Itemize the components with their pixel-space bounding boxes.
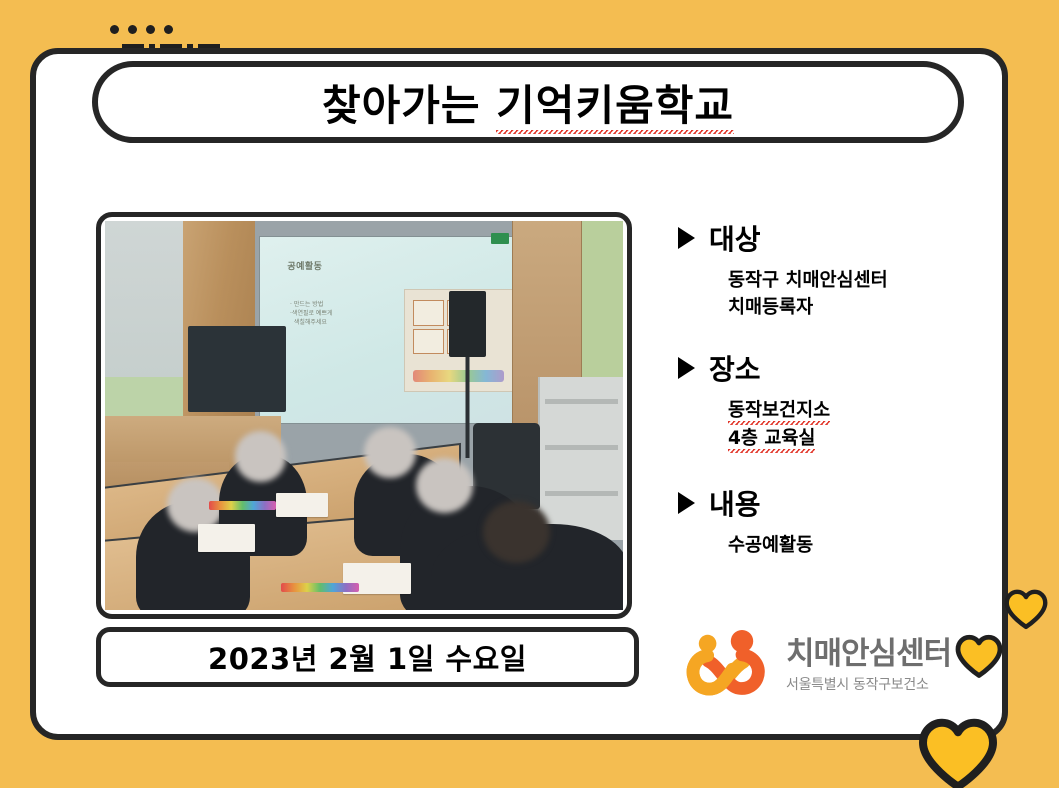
heart-medium-right-icon (955, 633, 1003, 679)
triangle-bullet-icon (678, 357, 695, 379)
title-spellchecked-part: 기억키움학교 (496, 81, 734, 137)
event-date: 2023년 2월 1일 수요일 (208, 636, 527, 678)
info-target-line-2: 치매등록자 (728, 295, 988, 322)
info-body-content: 수공예활동 (728, 533, 988, 560)
heart-small-right-icon (1004, 588, 1048, 630)
info-heading-content: 내용 (678, 483, 988, 523)
info-heading-location-label: 장소 (709, 348, 761, 388)
heart-large-bottom-icon (918, 716, 998, 788)
dot-3 (146, 25, 155, 34)
triangle-bullet-icon (678, 492, 695, 514)
info-block-content: 내용 수공예활동 (678, 483, 988, 560)
photo-speaker (449, 291, 485, 357)
title-plain-part: 찾아가는 (322, 81, 496, 130)
info-content-line-1: 수공예활동 (728, 533, 988, 560)
photo-participant-4-face (416, 458, 473, 512)
info-heading-location: 장소 (678, 348, 988, 388)
decoration-dots (110, 25, 173, 34)
title-banner: 찾아가는 기억키움학교 (92, 61, 964, 143)
info-target-line-1: 동작구 치매안심센터 (728, 268, 988, 295)
info-heading-content-label: 내용 (709, 483, 761, 523)
dot-2 (128, 25, 137, 34)
info-column: 대상 동작구 치매안심센터 치매등록자 장소 동작보건지소 4층 교육실 내용 (678, 218, 988, 578)
info-block-location: 장소 동작보건지소 4층 교육실 (678, 348, 988, 454)
organization-logo: 치매안심센터 서울특별시 동작구보건소 (686, 630, 951, 702)
logo-subtitle: 서울특별시 동작구보건소 (786, 674, 951, 694)
photo-projection-screen: 공예활동 · 만드는 방법·색연필로 예쁘게 색칠해주세요 (260, 237, 529, 424)
photo-markers-2 (281, 583, 359, 592)
logo-text: 치매안심센터 서울특별시 동작구보건소 (786, 638, 951, 694)
triangle-bullet-icon (678, 227, 695, 249)
projected-slide-title: 공예활동 (287, 259, 322, 272)
projected-slide-lines: · 만드는 방법·색연필로 예쁘게 색칠해주세요 (290, 300, 332, 327)
date-banner: 2023년 2월 1일 수요일 (96, 627, 639, 687)
info-block-target: 대상 동작구 치매안심센터 치매등록자 (678, 218, 988, 322)
page-title: 찾아가는 기억키움학교 (322, 72, 734, 133)
photo-participant-2-face (235, 431, 287, 482)
photo-participant-3-face (364, 427, 416, 478)
activity-photo-frame: 공예활동 · 만드는 방법·색연필로 예쁘게 색칠해주세요 (96, 212, 632, 619)
logo-name: 치매안심센터 (786, 638, 951, 671)
slide-canvas: 찾아가는 기억키움학교 공예활동 · 만드는 방법·색연필로 예쁘게 색칠해주세… (0, 0, 1059, 788)
photo-worksheet-2 (276, 493, 328, 516)
info-location-line-1: 동작보건지소 (728, 400, 830, 428)
info-body-location: 동작보건지소 4층 교육실 (728, 398, 988, 454)
activity-photo: 공예활동 · 만드는 방법·색연필로 예쁘게 색칠해주세요 (105, 221, 623, 610)
photo-worksheet-1 (198, 524, 255, 551)
photo-monitor (188, 326, 286, 412)
dot-1 (110, 25, 119, 34)
info-heading-target-label: 대상 (709, 218, 761, 258)
photo-markers-1 (209, 501, 276, 510)
dementia-center-logo-icon (686, 630, 774, 702)
info-heading-target: 대상 (678, 218, 988, 258)
dot-4 (164, 25, 173, 34)
info-body-target: 동작구 치매안심센터 치매등록자 (728, 268, 988, 322)
photo-green-wall-right (576, 221, 623, 377)
photo-exit-sign (491, 233, 509, 244)
photo-shelf (538, 377, 623, 540)
info-location-line-2: 4층 교육실 (728, 428, 815, 456)
